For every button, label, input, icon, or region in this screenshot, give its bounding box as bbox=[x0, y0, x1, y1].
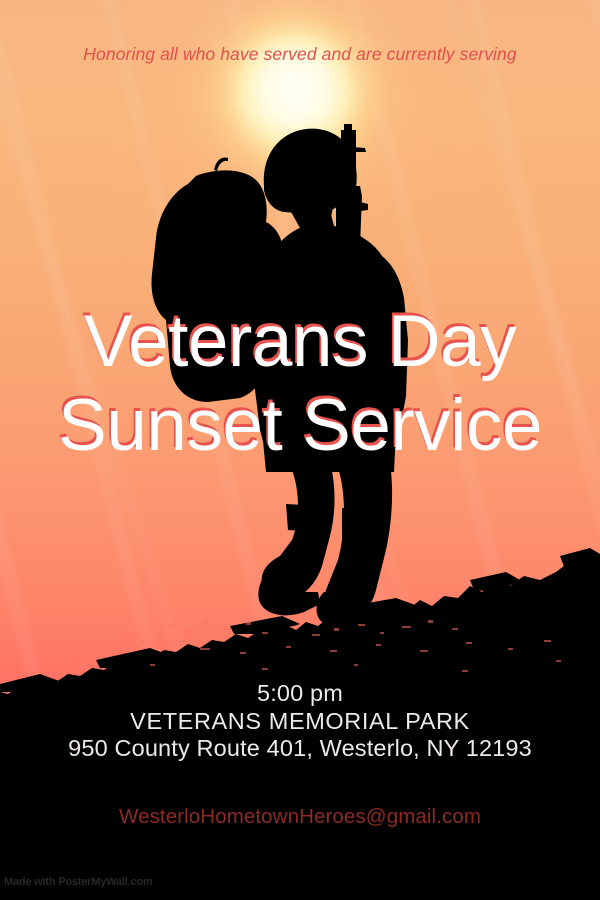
contact-email[interactable]: WesterloHometownHeroes@gmail.com bbox=[0, 805, 600, 829]
tagline-text: Honoring all who have served and are cur… bbox=[0, 44, 600, 65]
event-time: 5:00 pm bbox=[0, 680, 600, 708]
event-venue: VETERANS MEMORIAL PARK bbox=[0, 708, 600, 736]
poster-canvas: Honoring all who have served and are cur… bbox=[0, 0, 600, 900]
event-details: 5:00 pm VETERANS MEMORIAL PARK 950 Count… bbox=[0, 680, 600, 763]
event-address: 950 County Route 401, Westerlo, NY 12193 bbox=[0, 735, 600, 763]
postermywall-watermark: Made with PosterMyWall.com bbox=[4, 876, 152, 888]
sky-gradient-background bbox=[0, 0, 600, 900]
